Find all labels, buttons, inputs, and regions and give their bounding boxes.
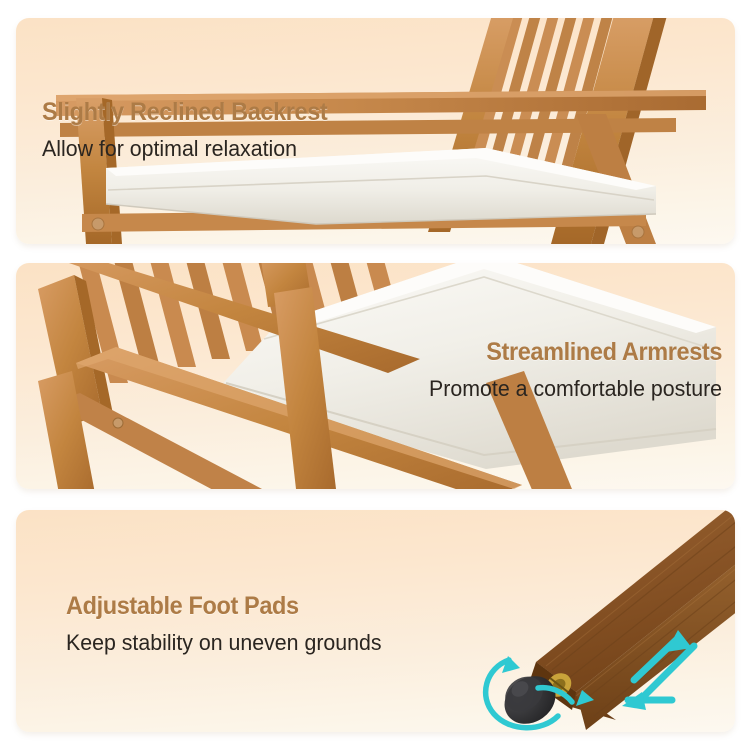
feature-text-block-2: Streamlined Armrests Promote a comfortab…	[420, 338, 722, 402]
feature-text-block-1: Slightly Reclined Backrest Allow for opt…	[42, 98, 346, 162]
feature-text-block-3: Adjustable Foot Pads Keep stability on u…	[66, 592, 391, 656]
panel-3-heading: Adjustable Foot Pads	[66, 592, 372, 621]
panel-1-subtitle: Allow for optimal relaxation	[42, 136, 337, 162]
panel-2-subtitle: Promote a comfortable posture	[429, 376, 722, 402]
panel-1-heading: Slightly Reclined Backrest	[42, 98, 327, 127]
infographic-page: Slightly Reclined Backrest Allow for opt…	[0, 0, 750, 750]
panel-3-subtitle: Keep stability on uneven grounds	[66, 630, 382, 656]
panel-2-heading: Streamlined Armrests	[438, 338, 722, 367]
